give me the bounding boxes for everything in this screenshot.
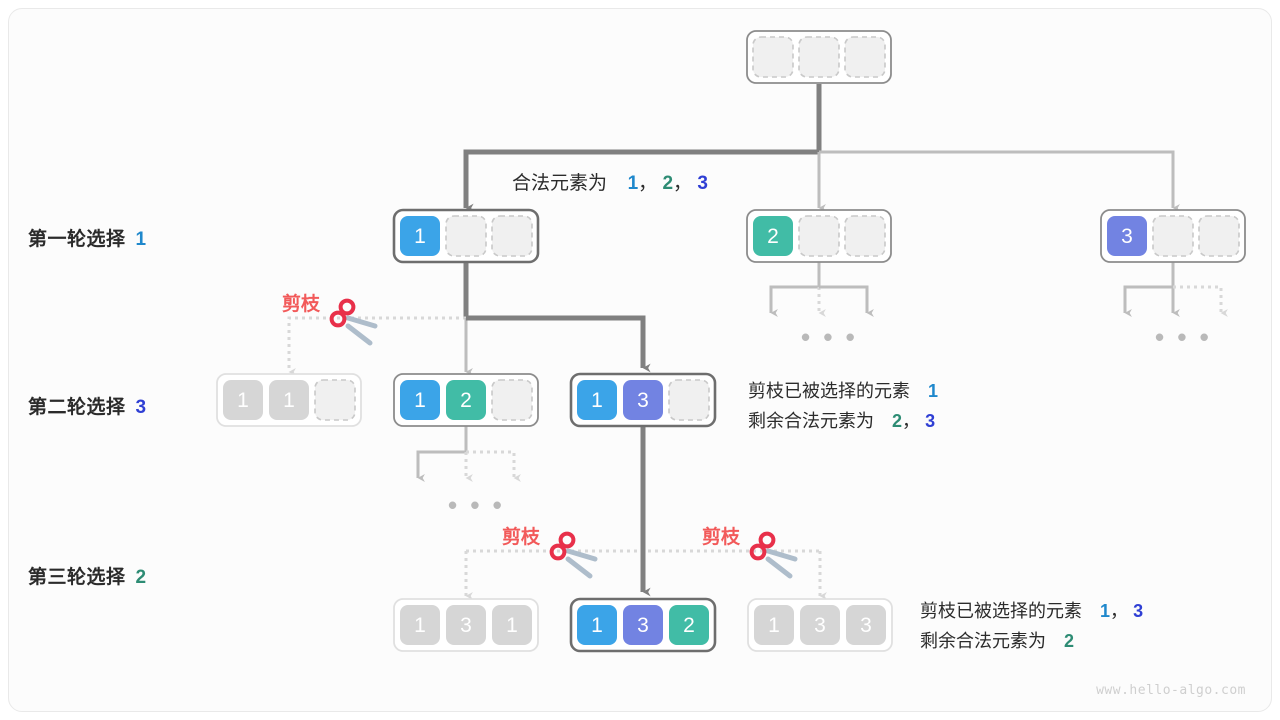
node-cell-value: 2 — [460, 389, 472, 412]
legal-value-2: 2 — [662, 173, 673, 194]
side-note-row3-line1-value-2: 3 — [1133, 601, 1143, 621]
tree-node — [747, 31, 891, 83]
node-cell — [799, 37, 839, 77]
legal-elements-note: 合法元素为 1， 2， 3 — [512, 168, 708, 195]
side-note-row2: 剪枝已被选择的元素 1 剩余合法元素为 2， 3 — [748, 376, 938, 436]
node-cell — [753, 37, 793, 77]
row-label-2: 第二轮选择3 — [28, 392, 147, 419]
row-label-2-value: 3 — [136, 397, 147, 418]
node-cell — [492, 216, 532, 256]
node-cell-value: 1 — [414, 389, 426, 412]
side-note-row3-line1: 剪枝已被选择的元素 1， 3 — [920, 596, 1143, 626]
row-label-1: 第一轮选择1 — [28, 224, 147, 251]
side-note-row3-line2-prefix: 剩余合法元素为 — [920, 631, 1046, 651]
side-note-row2-line2: 剩余合法元素为 2， 3 — [748, 406, 938, 436]
legal-elements-prefix: 合法元素为 — [512, 173, 607, 194]
tree-node: 11 — [217, 374, 361, 426]
node-cell-value: 1 — [506, 614, 518, 637]
ellipsis-under-3: • • • — [1155, 332, 1212, 342]
tree-node: 133 — [748, 599, 892, 651]
node-cell — [446, 216, 486, 256]
legal-sep-1: ， — [638, 173, 657, 194]
legal-value-3: 3 — [697, 173, 708, 194]
side-note-row3-line1-value-1: 1 — [1100, 601, 1110, 621]
ellipsis-under-2: • • • — [801, 332, 858, 342]
side-note-row2-line1: 剪枝已被选择的元素 1 — [748, 376, 938, 406]
row-label-2-text: 第二轮选择 — [28, 397, 126, 418]
row-label-3-value: 2 — [136, 567, 147, 588]
row-label-1-text: 第一轮选择 — [28, 229, 126, 250]
edges-node12-children — [418, 426, 514, 478]
node-cell — [315, 380, 355, 420]
node-cell-value: 3 — [814, 614, 826, 637]
diagram-root: 123111213131132133 第一轮选择1 第二轮选择3 第三轮选择2 … — [0, 0, 1280, 720]
tree-node: 131 — [394, 599, 538, 651]
prune-marker-2-icon — [552, 534, 595, 576]
node-cell-value: 1 — [283, 389, 295, 412]
node-cell-value: 1 — [768, 614, 780, 637]
tree-node: 1 — [394, 210, 538, 262]
row-label-3-text: 第三轮选择 — [28, 567, 126, 588]
node-cell — [845, 37, 885, 77]
legal-value-1: 1 — [628, 173, 639, 194]
prune-label-2: 剪枝 — [502, 522, 540, 549]
edges-node13-children — [466, 426, 820, 596]
node-cell-value: 2 — [683, 614, 695, 637]
tree-node: 12 — [394, 374, 538, 426]
row-label-3: 第三轮选择2 — [28, 562, 147, 589]
prune-label-3: 剪枝 — [702, 522, 740, 549]
prune-marker-3-icon — [752, 534, 795, 576]
side-note-row3-line2: 剩余合法元素为 2 — [920, 626, 1143, 656]
node-cell-value: 3 — [460, 614, 472, 637]
node-cell-value: 1 — [591, 614, 603, 637]
node-cell-value: 1 — [591, 389, 603, 412]
edges-node2-children — [771, 262, 867, 313]
watermark: www.hello-algo.com — [1096, 683, 1246, 698]
node-cell-value: 1 — [414, 614, 426, 637]
node-cell-value: 1 — [414, 225, 426, 248]
node-cell-value: 3 — [637, 389, 649, 412]
prune-marker-1-icon — [332, 301, 375, 343]
side-note-row3-sep: ， — [1110, 601, 1128, 621]
prune-label-1: 剪枝 — [282, 289, 320, 316]
side-note-row3-line2-value-1: 2 — [1064, 631, 1074, 651]
tree-node: 13 — [571, 374, 715, 426]
legal-sep-2: ， — [673, 173, 692, 194]
side-note-row2-sep: ， — [902, 411, 920, 431]
side-note-row2-line2-value-2: 3 — [925, 411, 935, 431]
side-note-row2-line2-value-1: 2 — [892, 411, 902, 431]
node-cell-value: 3 — [1121, 225, 1133, 248]
node-cell-value: 1 — [237, 389, 249, 412]
node-cell — [1199, 216, 1239, 256]
side-note-row2-line1-prefix: 剪枝已被选择的元素 — [748, 381, 910, 401]
edges-node3-children — [1125, 262, 1221, 313]
node-cell — [669, 380, 709, 420]
node-cell-value: 3 — [637, 614, 649, 637]
node-cell-value: 3 — [860, 614, 872, 637]
side-note-row3: 剪枝已被选择的元素 1， 3 剩余合法元素为 2 — [920, 596, 1143, 656]
node-cell — [799, 216, 839, 256]
node-cell — [845, 216, 885, 256]
tree-node: 3 — [1101, 210, 1245, 262]
node-cell — [1153, 216, 1193, 256]
ellipsis-under-12: • • • — [448, 500, 505, 510]
node-cell-value: 2 — [767, 225, 779, 248]
side-note-row3-line1-prefix: 剪枝已被选择的元素 — [920, 601, 1082, 621]
node-cell — [492, 380, 532, 420]
side-note-row2-line2-prefix: 剩余合法元素为 — [748, 411, 874, 431]
row-label-1-value: 1 — [136, 229, 147, 250]
tree-node: 132 — [571, 599, 715, 651]
tree-node: 2 — [747, 210, 891, 262]
side-note-row2-line1-value-1: 1 — [928, 381, 938, 401]
